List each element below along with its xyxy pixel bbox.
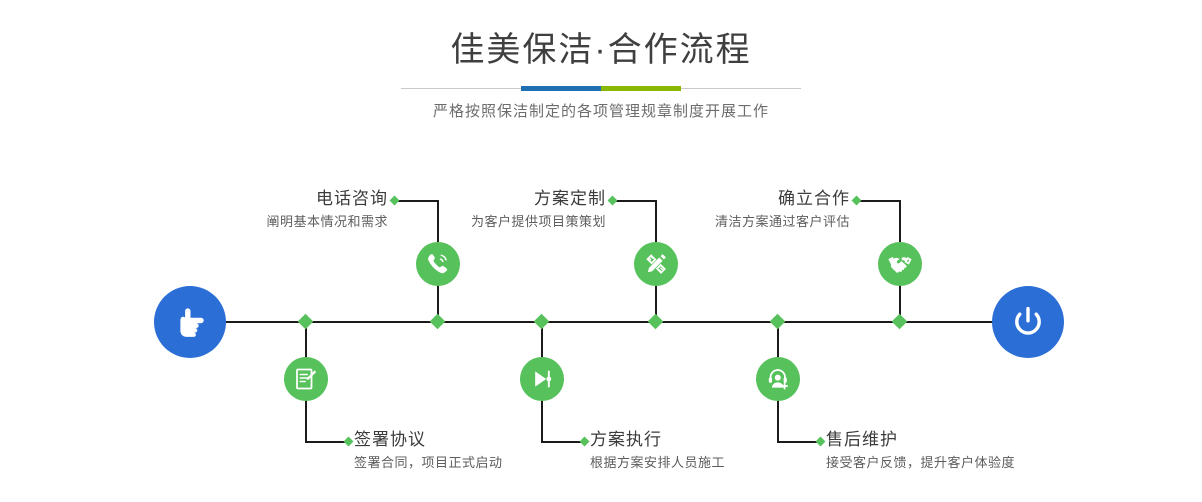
start-endpoint <box>154 286 226 358</box>
step-label-4: 方案执行 根据方案安排人员施工 <box>590 428 805 474</box>
handshake-icon <box>887 251 913 277</box>
connector-vline-step-4-lower <box>541 400 543 442</box>
step-title-6: 确立合作 <box>650 187 850 211</box>
step-desc-1: 阐明基本情况和需求 <box>180 211 388 233</box>
play-execute-icon <box>529 366 555 392</box>
step-label-2: 签署协议 签署合同，项目正式启动 <box>354 428 584 474</box>
step-node-2[interactable] <box>284 357 328 401</box>
step-title-5: 售后维护 <box>826 428 1076 452</box>
step-node-6[interactable] <box>878 242 922 286</box>
connector-vline-step-6-upper <box>899 201 901 242</box>
leader-marker-step-5 <box>816 437 826 447</box>
axis-marker-step-1 <box>430 314 446 330</box>
axis-marker-step-6 <box>892 314 908 330</box>
axis-marker-step-4 <box>534 314 550 330</box>
step-node-5[interactable] <box>756 357 800 401</box>
step-label-1: 电话咨询 阐明基本情况和需求 <box>180 187 388 233</box>
axis-marker-step-5 <box>770 314 786 330</box>
step-node-3[interactable] <box>634 242 678 286</box>
timeline-axis <box>158 321 1060 323</box>
step-label-5: 售后维护 接受客户反馈，提升客户体验度 <box>826 428 1076 474</box>
pointing-hand-icon <box>167 299 213 345</box>
connector-vline-step-2-lower <box>305 400 307 442</box>
leader-marker-step-6 <box>852 196 862 206</box>
contract-sign-icon <box>293 366 319 392</box>
connector-hline-step-6 <box>856 200 901 202</box>
step-title-3: 方案定制 <box>400 187 606 211</box>
page-subtitle: 严格按照保洁制定的各项管理规章制度开展工作 <box>0 101 1202 123</box>
step-desc-2: 签署合同，项目正式启动 <box>354 452 584 474</box>
customer-service-add-icon <box>765 366 791 392</box>
step-title-2: 签署协议 <box>354 428 584 452</box>
process-flow-infographic: 佳美保洁·合作流程 严格按照保洁制定的各项管理规章制度开展工作 <box>0 0 1202 502</box>
header: 佳美保洁·合作流程 严格按照保洁制定的各项管理规章制度开展工作 <box>0 28 1202 123</box>
leader-marker-step-2 <box>344 437 354 447</box>
step-node-4[interactable] <box>520 357 564 401</box>
step-desc-5: 接受客户反馈，提升客户体验度 <box>826 452 1076 474</box>
leader-marker-step-1 <box>390 196 400 206</box>
step-label-3: 方案定制 为客户提供项目策策划 <box>400 187 606 233</box>
connector-vline-step-5-lower <box>777 400 779 442</box>
step-title-4: 方案执行 <box>590 428 805 452</box>
leader-marker-step-3 <box>608 196 618 206</box>
step-node-1[interactable] <box>416 242 460 286</box>
phone-call-icon <box>425 251 451 277</box>
power-icon <box>1006 300 1050 344</box>
end-endpoint <box>992 286 1064 358</box>
title-divider <box>401 86 801 91</box>
step-desc-4: 根据方案安排人员施工 <box>590 452 805 474</box>
divider-segment-green <box>601 86 681 91</box>
step-desc-3: 为客户提供项目策策划 <box>400 211 606 233</box>
step-title-1: 电话咨询 <box>180 187 388 211</box>
pencil-ruler-icon <box>643 251 669 277</box>
page-title: 佳美保洁·合作流程 <box>0 28 1202 72</box>
divider-segment-blue <box>521 86 601 91</box>
axis-marker-step-3 <box>648 314 664 330</box>
step-label-6: 确立合作 清洁方案通过客户评估 <box>650 187 850 233</box>
axis-marker-step-2 <box>298 314 314 330</box>
step-desc-6: 清洁方案通过客户评估 <box>650 211 850 233</box>
